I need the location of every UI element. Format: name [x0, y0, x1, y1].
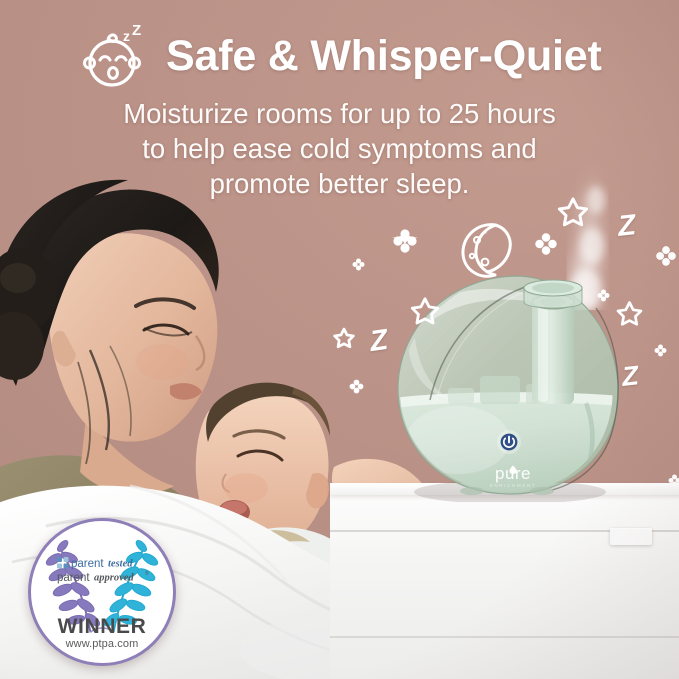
subtitle-line-1: Moisturize rooms for up to 25 hours [60, 96, 619, 131]
subtitle-line-3: promote better sleep. [60, 166, 619, 201]
product-marketing-image: pure ENRICHMENT [0, 0, 679, 679]
svg-text:approved: approved [94, 573, 134, 584]
badge-url: www.ptpa.com [31, 638, 173, 650]
svg-text:parent: parent [57, 572, 90, 584]
subtitle-line-2: to help ease cold symptoms and [60, 131, 619, 166]
svg-text:parent: parent [71, 558, 104, 570]
page-title: Safe & Whisper-Quiet [166, 35, 602, 78]
svg-text:tested: tested [108, 559, 133, 570]
svg-text:Z: Z [132, 22, 141, 39]
ptpa-winner-badge: parent tested parent approved ® WINNER w… [28, 518, 176, 666]
svg-text:z: z [123, 28, 130, 44]
svg-text:®: ® [145, 570, 149, 577]
sleeping-baby-icon: z Z [78, 19, 152, 93]
badge-award-label: WINNER [31, 615, 173, 639]
headline-row: z Z Safe & Whisper-Quiet [78, 16, 638, 96]
page-subtitle: Moisturize rooms for up to 25 hours to h… [0, 96, 679, 202]
ptpa-logo: parent tested parent approved ® [57, 555, 153, 585]
